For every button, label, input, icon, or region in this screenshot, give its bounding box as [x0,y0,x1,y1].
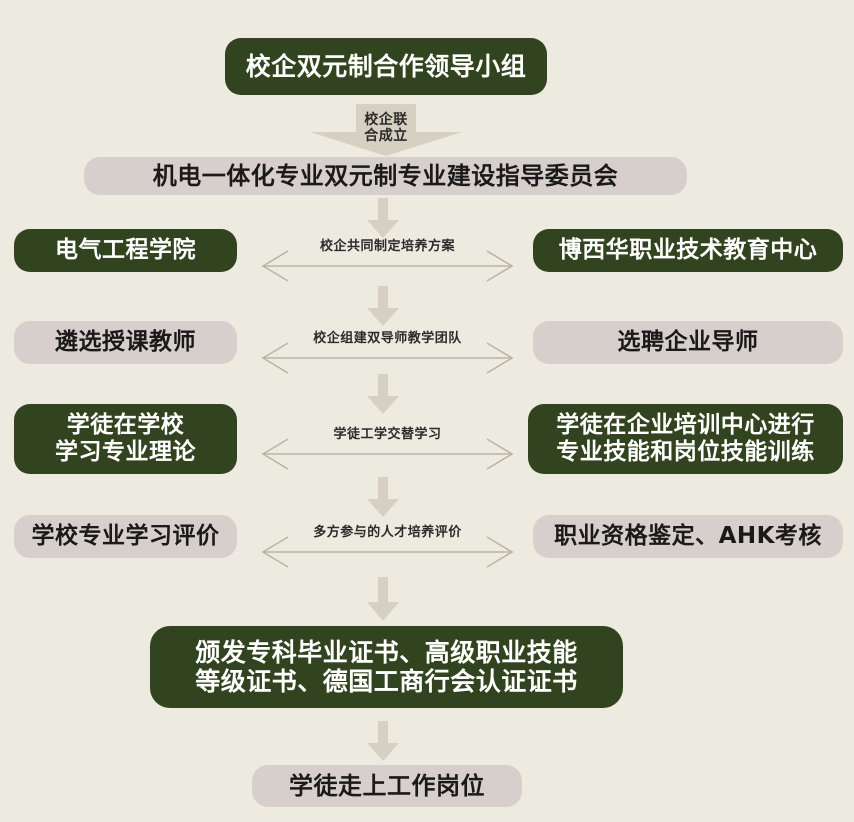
node-label: 遴选授课教师 [55,329,196,356]
node-row-0-left: 电气工程学院 [14,229,237,272]
node-label: 机电一体化专业双元制专业建设指导委员会 [153,162,619,190]
flowchart-canvas: 校企双元制合作领导小组 校企联 合成立 机电一体化专业双元制专业建设指导委员会 … [0,0,854,822]
down-arrow-icon [361,374,405,414]
bidirectional-arrow-caption: 校企共同制定培养方案 [255,235,520,254]
node-label-line1: 颁发专科毕业证书、高级职业技能 [195,638,578,668]
bidirectional-arrow-caption: 多方参与的人才培养评价 [255,521,520,540]
down-arrow-icon [361,721,405,761]
down-arrow-1 [361,198,405,238]
node-leadership-group: 校企双元制合作领导小组 [225,38,547,95]
node-label: 学徒走上工作岗位 [289,772,485,800]
down-arrow-6 [361,721,405,761]
block-arrow-label: 校企联 合成立 [310,104,462,156]
node-certificates: 颁发专科毕业证书、高级职业技能 等级证书、德国工商行会认证证书 [150,626,623,708]
bidirectional-arrow-row-1: 校企组建双导师教学团队 [255,325,520,381]
node-label-line2: 学习专业理论 [55,439,196,466]
block-arrow-joint-establishment: 校企联 合成立 [310,104,462,156]
node-label-line2: 等级证书、德国工商行会认证证书 [195,667,578,697]
down-arrow-icon [361,577,405,621]
node-row-2-right: 学徒在企业培训中心进行 专业技能和岗位技能训练 [528,404,843,474]
block-arrow-label-line1: 校企联 [364,112,408,128]
node-label: 职业资格鉴定、AHK考核 [554,523,822,550]
block-arrow-label-line2: 合成立 [364,128,408,144]
down-arrow-2 [361,286,405,326]
node-steering-committee: 机电一体化专业双元制专业建设指导委员会 [84,157,687,195]
bidirectional-arrow-row-2: 学徒工学交替学习 [255,421,520,477]
node-label: 学校专业学习评价 [32,523,220,550]
down-arrow-icon [361,477,405,517]
node-label: 电气工程学院 [55,237,196,264]
node-label-line1: 学徒在企业培训中心进行 [556,412,815,439]
node-label: 博西华职业技术教育中心 [559,237,818,264]
down-arrow-4 [361,477,405,517]
node-row-0-right: 博西华职业技术教育中心 [533,229,843,272]
node-row-2-left: 学徒在学校 学习专业理论 [14,404,237,474]
down-arrow-3 [361,374,405,414]
bidirectional-arrow-row-0: 校企共同制定培养方案 [255,233,520,289]
node-label-line2: 专业技能和岗位技能训练 [556,439,815,466]
node-row-1-right: 选聘企业导师 [533,321,843,364]
bidirectional-arrow-caption: 校企组建双导师教学团队 [255,327,520,346]
node-row-3-left: 学校专业学习评价 [14,515,237,558]
bidirectional-arrow-caption: 学徒工学交替学习 [255,423,520,442]
down-arrow-icon [361,286,405,326]
down-arrow-5 [361,577,405,621]
node-label: 校企双元制合作领导小组 [246,52,527,82]
node-label-line1: 学徒在学校 [67,412,185,439]
bidirectional-arrow-row-3: 多方参与的人才培养评价 [255,519,520,575]
down-arrow-icon [361,198,405,238]
node-label: 选聘企业导师 [618,329,759,356]
node-apprentice-employment: 学徒走上工作岗位 [252,765,522,807]
node-row-1-left: 遴选授课教师 [14,321,237,364]
node-row-3-right: 职业资格鉴定、AHK考核 [533,515,843,558]
